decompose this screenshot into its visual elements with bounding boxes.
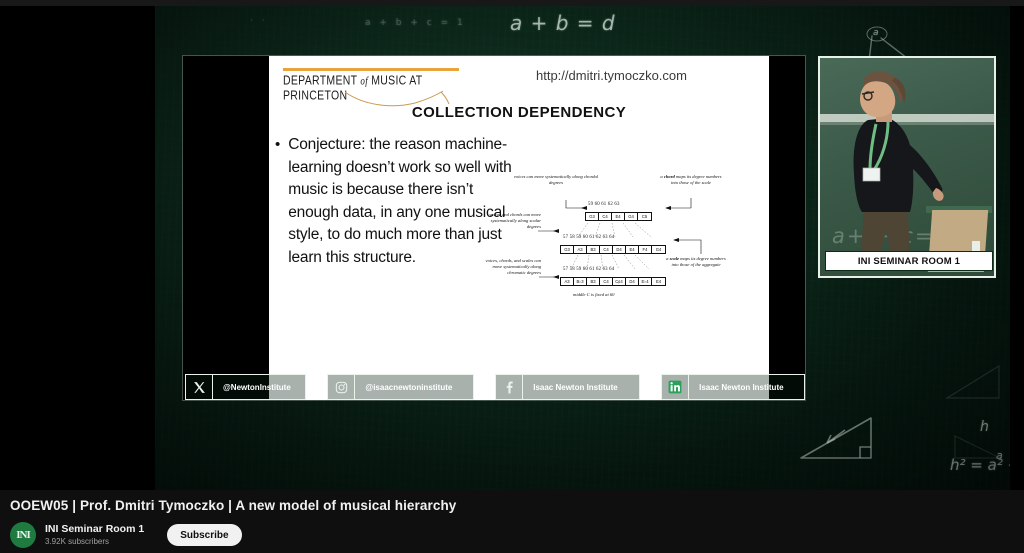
diagram-annotation-top-right: a chord maps its degree numbers into tho…	[657, 174, 725, 186]
logo-text-pre: DEPARTMENT	[283, 73, 357, 88]
diagram-annotation-top-left: voices can move systematically along cho…	[511, 174, 601, 186]
ann-tr-post: maps its degree numbers into those of th…	[671, 174, 722, 185]
letterbox-right	[1010, 6, 1024, 490]
diagram-row-2-cells: A3 B♭3 B3 C4 C♯4 D4 E♭4 E4	[560, 277, 666, 286]
cell: C5	[638, 213, 651, 220]
diagram-row-1-numbers: 57 58 59 60 61 62 63 64	[563, 235, 614, 240]
ann-br-post: maps its degree numbers into those of th…	[671, 256, 725, 267]
cell: A3	[561, 278, 574, 285]
cell: G4	[625, 213, 638, 220]
diagram-row-0-numbers: 59 60 61 62 63	[588, 202, 620, 207]
slide-url: http://dmitri.tymoczko.com	[536, 68, 687, 83]
cell: A3	[574, 246, 587, 253]
speaker-figure	[838, 70, 944, 270]
cell: D4	[613, 246, 626, 253]
cell: G4	[652, 246, 665, 253]
social-item-x[interactable]: @NewtonInstitute	[185, 374, 306, 400]
princeton-music-logo: DEPARTMENT of MUSIC AT PRINCETON	[283, 68, 463, 97]
diagram-row-1-cells: G3 A3 B3 C4 D4 E4 F4 G4	[560, 245, 666, 254]
channel-name[interactable]: INI Seminar Room 1	[45, 523, 144, 536]
video-frame: · · a + b + c = 1 a + b = d a h b a h² =…	[155, 6, 1010, 490]
social-item-instagram[interactable]: @isaacnewtoninstitute	[327, 374, 474, 400]
slide-letterbox-left	[183, 56, 269, 400]
annotation-bot-left-text: voices, chords, and scales can move syst…	[486, 258, 541, 275]
slide-content: DEPARTMENT of MUSIC AT PRINCETON http://…	[269, 56, 769, 400]
speaker-camera-inset[interactable]: a+b+c=3&0	[818, 56, 996, 278]
social-item-linkedin[interactable]: Isaac Newton Institute	[661, 374, 805, 400]
cell: C4	[600, 246, 613, 253]
cam-room-label: INI SEMINAR ROOM 1	[825, 251, 993, 271]
annotation-top-left-text: voices can move systematically along cho…	[514, 174, 598, 185]
bullet-marker: •	[275, 134, 280, 269]
logo-text-mid: of	[360, 74, 368, 87]
cell: B3	[587, 246, 600, 253]
slide-letterbox-right	[769, 56, 805, 400]
cell: B♭3	[574, 278, 587, 285]
channel-subscribers: 3.92K subscribers	[45, 536, 144, 547]
channel-row: INI INI Seminar Room 1 3.92K subscribers…	[10, 522, 242, 548]
social-handles-bar: @NewtonInstitute @isaacnewtoninstitute I…	[185, 374, 805, 400]
diagram-row-2-numbers: 57 58 59 60 61 62 63 64	[563, 267, 614, 272]
cell: B3	[587, 278, 600, 285]
diagram-caption: middle C is fixed at 60	[573, 292, 614, 297]
diagram-annotation-mid-left: voices and chords can move systematicall…	[481, 212, 541, 230]
cell: G3	[561, 246, 574, 253]
facebook-icon	[496, 375, 522, 399]
diagram-row-0-cells: G3 C4 E4 G4 C5	[585, 212, 652, 221]
channel-avatar[interactable]: INI	[10, 522, 36, 548]
instagram-icon	[328, 375, 354, 399]
cell: E4	[612, 213, 625, 220]
bullet-text: Conjecture: the reason machine-learning …	[288, 134, 519, 269]
video-title: OOEW05 | Prof. Dmitri Tymoczko | A new m…	[10, 498, 456, 513]
logo-rule	[283, 68, 459, 71]
ann-br-bold: scale	[670, 256, 679, 261]
cell: C4	[599, 213, 612, 220]
subscribe-button[interactable]: Subscribe	[167, 524, 241, 546]
cell: F4	[639, 246, 652, 253]
social-handle-instagram: @isaacnewtoninstitute	[354, 375, 462, 399]
social-handle-facebook: Isaac Newton Institute	[522, 375, 627, 399]
social-handle-linkedin: Isaac Newton Institute	[688, 375, 793, 399]
slide-title: COLLECTION DEPENDENCY	[269, 104, 769, 121]
cell: D4	[626, 278, 639, 285]
x-twitter-icon	[186, 375, 212, 399]
youtube-watch-page: · · a + b + c = 1 a + b = d a h b a h² =…	[0, 0, 1024, 553]
ann-tr-bold: chord	[664, 174, 675, 179]
video-info-panel: OOEW05 | Prof. Dmitri Tymoczko | A new m…	[0, 490, 1024, 553]
diagram-annotation-bot-right: a scale maps its degree numbers into tho…	[665, 256, 727, 268]
diagram-annotation-bot-left: voices, chords, and scales can move syst…	[479, 258, 541, 276]
linkedin-icon	[662, 375, 688, 399]
presentation-slide: DEPARTMENT of MUSIC AT PRINCETON http://…	[183, 56, 805, 400]
slide-bullet: • Conjecture: the reason machine-learnin…	[275, 134, 519, 269]
cell: E4	[652, 278, 665, 285]
social-handle-x: @NewtonInstitute	[212, 375, 301, 399]
cell: E4	[626, 246, 639, 253]
channel-meta: INI Seminar Room 1 3.92K subscribers	[45, 523, 144, 547]
letterbox-left	[0, 6, 155, 490]
collection-dependency-diagram: voices can move systematically along cho…	[515, 174, 730, 319]
social-item-facebook[interactable]: Isaac Newton Institute	[495, 374, 640, 400]
annotation-mid-left-text: voices and chords can move systematicall…	[489, 212, 541, 229]
cell: E♭4	[639, 278, 652, 285]
cell: C♯4	[613, 278, 626, 285]
video-player[interactable]: · · a + b + c = 1 a + b = d a h b a h² =…	[0, 6, 1024, 490]
cell: G3	[586, 213, 599, 220]
cell: C4	[600, 278, 613, 285]
